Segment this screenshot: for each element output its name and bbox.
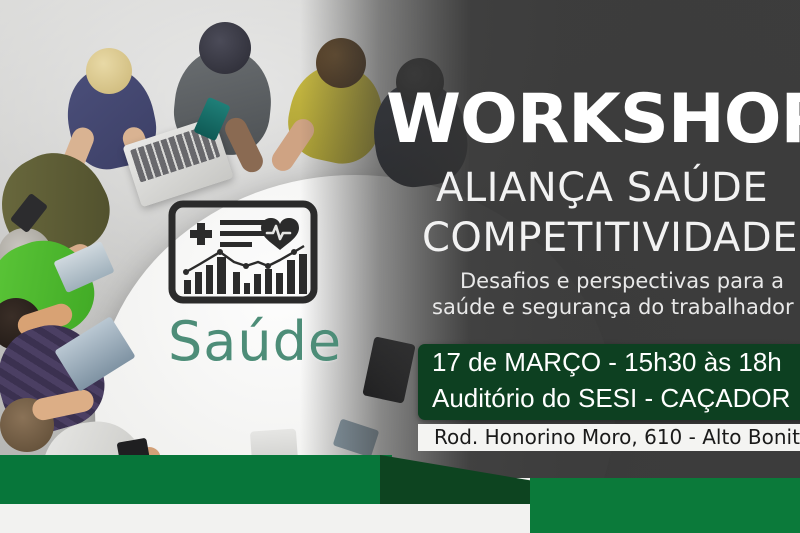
bottom-band-right-front: [530, 478, 800, 533]
health-dashboard-icon: [168, 200, 318, 304]
description: Desafios e perspectivas para a saúde e s…: [460, 268, 794, 321]
event-date-time: 17 de MARÇO - 15h30 às 18h: [432, 344, 800, 380]
event-venue: Auditório do SESI - CAÇADOR: [432, 380, 800, 416]
page-title: WORKSHOP: [386, 88, 800, 153]
logo-wordmark: Saúde: [168, 315, 336, 369]
subtitle-line-2: COMPETITIVIDADE: [422, 218, 798, 258]
bottom-band-left: [0, 455, 392, 505]
event-details-box: 17 de MARÇO - 15h30 às 18h Auditório do …: [418, 344, 800, 420]
description-line-2: saúde e segurança do trabalhador: [432, 294, 794, 320]
event-poster: Saúde WORKSHOP ALIANÇA SAÚDE COMPETITIVI…: [0, 0, 800, 533]
subtitle-line-1: ALIANÇA SAÚDE: [436, 168, 768, 208]
event-address: Rod. Honorino Moro, 610 - Alto Bonito: [434, 424, 800, 451]
event-address-band: Rod. Honorino Moro, 610 - Alto Bonito: [418, 424, 800, 451]
description-line-1: Desafios e perspectivas para a: [460, 269, 784, 293]
saude-logo: Saúde: [168, 200, 336, 380]
